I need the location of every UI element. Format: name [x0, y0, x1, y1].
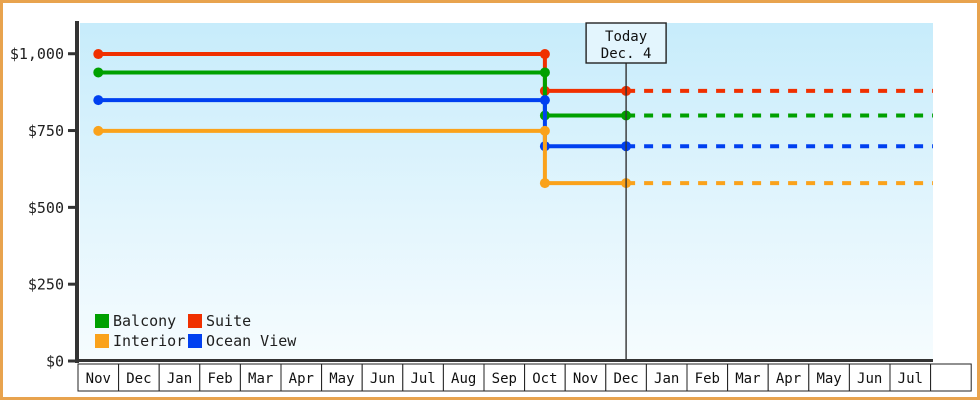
x-axis-month-label: Nov [86, 371, 111, 387]
x-axis-month-label: Aug [451, 371, 476, 387]
x-axis-month-label: Dec [126, 371, 151, 387]
y-tick-label: $250 [28, 276, 64, 294]
data-point-marker[interactable] [93, 49, 103, 59]
x-axis-month-label: Jan [654, 371, 679, 387]
legend-swatch [188, 314, 202, 328]
y-tick-label: $750 [28, 122, 64, 140]
x-axis-month-label: Nov [573, 371, 598, 387]
y-tick [68, 283, 78, 286]
chart-svg: $0$250$500$750$1,000 TodayDec. 4 Balcony… [3, 3, 980, 403]
x-axis-month-label: Feb [207, 371, 232, 387]
x-axis-cell[interactable] [931, 364, 972, 391]
x-axis-month-label: Apr [289, 371, 314, 387]
data-point-marker[interactable] [540, 126, 550, 136]
y-tick [68, 360, 78, 363]
price-history-chart: $0$250$500$750$1,000 TodayDec. 4 Balcony… [3, 3, 980, 403]
x-axis-month-label: Oct [532, 371, 557, 387]
x-axis-month-label: Mar [248, 371, 273, 387]
y-tick-label: $500 [28, 199, 64, 217]
x-axis-month-label: Jul [410, 371, 435, 387]
x-axis-month-label: Jan [167, 371, 192, 387]
legend-label[interactable]: Interior [113, 332, 185, 350]
x-axis-month-label: Jul [898, 371, 923, 387]
legend-label[interactable]: Balcony [113, 312, 176, 330]
data-point-marker[interactable] [540, 67, 550, 77]
today-label-line2: Dec. 4 [601, 46, 652, 62]
x-axis-month-label: Mar [735, 371, 760, 387]
data-point-marker[interactable] [93, 126, 103, 136]
data-point-marker[interactable] [93, 95, 103, 105]
y-tick [68, 206, 78, 209]
y-tick [68, 129, 78, 132]
data-point-marker[interactable] [540, 178, 550, 188]
today-label-line1: Today [605, 29, 647, 45]
x-axis-line [75, 359, 933, 362]
x-axis-month-label: May [329, 371, 354, 387]
x-axis-month-label: Apr [776, 371, 801, 387]
data-point-marker[interactable] [93, 67, 103, 77]
legend-swatch [95, 334, 109, 348]
x-axis-month-label: Jun [370, 371, 395, 387]
chart-frame: $0$250$500$750$1,000 TodayDec. 4 Balcony… [0, 0, 980, 400]
x-axis-month-label: Dec [613, 371, 638, 387]
x-axis-month-cells: NovDecJanFebMarAprMayJunJulAugSepOctNovD… [78, 364, 971, 391]
y-axis-labels: $0$250$500$750$1,000 [10, 45, 64, 370]
legend-label[interactable]: Ocean View [206, 332, 297, 350]
x-axis-month-label: May [816, 371, 841, 387]
data-point-marker[interactable] [540, 95, 550, 105]
y-tick-label: $0 [46, 353, 64, 371]
legend-label[interactable]: Suite [206, 312, 251, 330]
legend-swatch [188, 334, 202, 348]
y-axis-line [75, 21, 79, 363]
y-tick-label: $1,000 [10, 45, 64, 63]
x-axis-month-label: Feb [695, 371, 720, 387]
x-axis-month-label: Jun [857, 371, 882, 387]
legend-swatch [95, 314, 109, 328]
x-axis-month-label: Sep [492, 371, 517, 387]
data-point-marker[interactable] [540, 49, 550, 59]
y-tick [68, 52, 78, 55]
